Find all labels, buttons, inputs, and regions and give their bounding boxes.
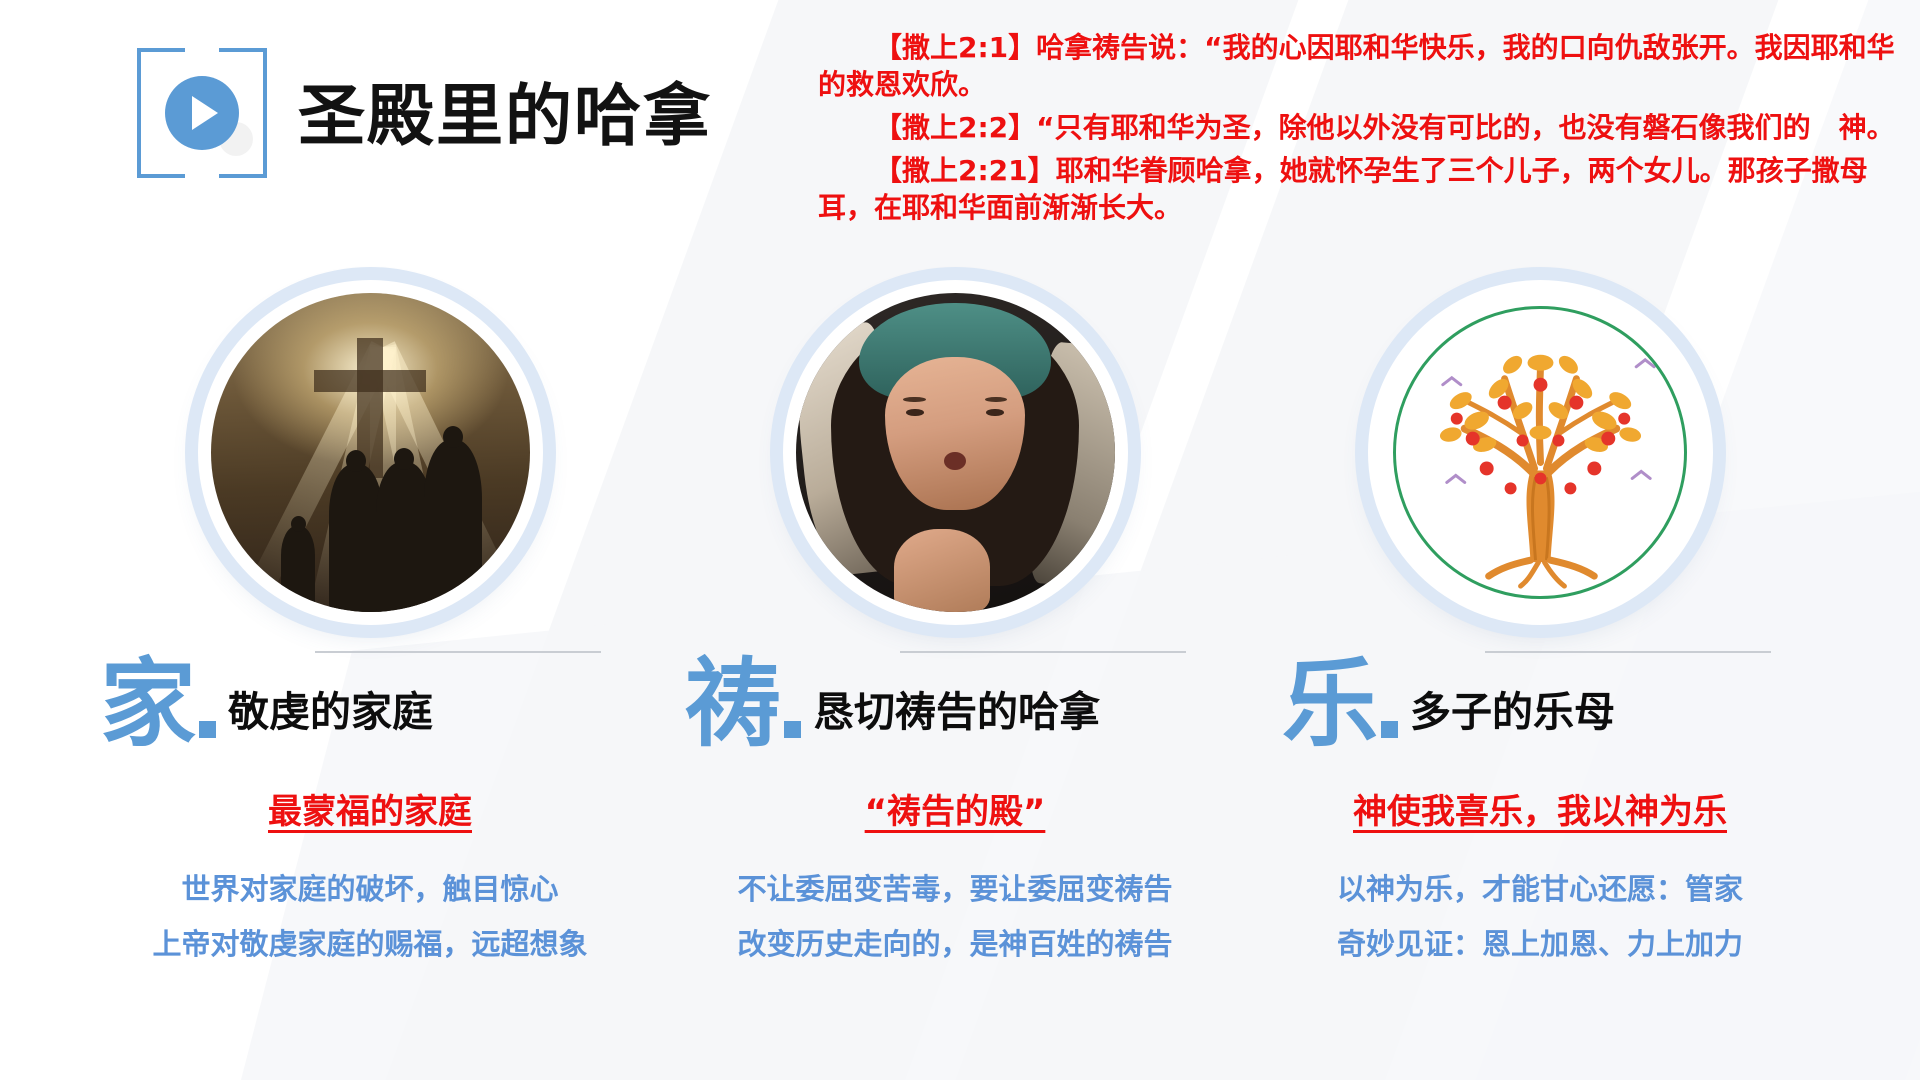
cross-silhouette-image — [211, 293, 530, 612]
photo-clip — [211, 293, 530, 612]
praying-woman-image — [796, 293, 1115, 612]
play-icon-frame-notch — [185, 174, 219, 182]
play-icon-frame-notch — [185, 44, 219, 52]
column-divider — [315, 651, 601, 653]
column-headline-label: 恳切祷告的哈拿 — [813, 678, 1100, 750]
mouth — [944, 452, 966, 470]
column-key-character: 乐 — [1282, 659, 1378, 750]
column-joy: 乐 多子的乐母 神使我喜乐，我以神为乐 以神为乐，才能甘心还愿：管家 奇妙见证：… — [1230, 280, 1850, 985]
body-line: 改变历史走向的，是神百姓的祷告 — [645, 930, 1265, 959]
scripture-verse: 【撒上2:1】哈拿祷告说：“我的心因耶和华快乐，我的口向仇敌张开。我因耶和华的救… — [818, 30, 1913, 104]
column-body-lines: 不让委屈变苦毒，要让委屈变祷告 改变历史走向的，是神百姓的祷告 — [645, 875, 1265, 959]
family-cross-photo — [198, 280, 543, 625]
column-headline-label: 多子的乐母 — [1410, 678, 1615, 750]
column-headline: 家 敬虔的家庭 — [60, 659, 680, 750]
scripture-verse: 【撒上2:21】耶和华眷顾哈拿，她就怀孕生了三个儿子，两个女儿。那孩子撒母耳，在… — [818, 153, 1913, 227]
scripture-verse: 【撒上2:2】“只有耶和华为圣，除他以外没有可比的，也没有磐石像我们的 神。 — [818, 110, 1913, 147]
play-icon — [137, 48, 267, 178]
square-dot-icon — [1381, 721, 1398, 738]
page-title: 圣殿里的哈拿 — [298, 62, 712, 159]
body-line: 以神为乐，才能甘心还愿：管家 — [1230, 875, 1850, 904]
eye — [986, 409, 1004, 417]
column-red-subtitle: 神使我喜乐，我以神为乐 — [1230, 784, 1850, 833]
eyebrow — [903, 397, 925, 402]
column-body-lines: 以神为乐，才能甘心还愿：管家 奇妙见证：恩上加恩、力上加力 — [1230, 875, 1850, 959]
column-prayer: 祷 恳切祷告的哈拿 “祷告的殿” 不让委屈变苦毒，要让委屈变祷告 改变历史走向的… — [645, 280, 1265, 985]
column-headline-label: 敬虔的家庭 — [228, 678, 433, 750]
photo-clip — [1381, 293, 1700, 612]
column-divider — [1485, 651, 1771, 653]
column-red-subtitle: 最蒙福的家庭 — [60, 784, 680, 833]
column-headline: 祷 恳切祷告的哈拿 — [645, 659, 1265, 750]
praying-woman-photo — [783, 280, 1128, 625]
column-key-character: 家 — [100, 659, 196, 750]
person-silhouette — [424, 440, 482, 612]
column-key-character: 祷 — [685, 659, 781, 750]
square-dot-icon — [784, 721, 801, 738]
eye — [906, 409, 924, 417]
tree-ring — [1393, 306, 1687, 600]
column-family: 家 敬虔的家庭 最蒙福的家庭 世界对家庭的破坏，触目惊心 上帝对敬虔家庭的赐福，… — [60, 280, 680, 985]
play-icon-triangle — [192, 96, 218, 130]
slide-header: 圣殿里的哈拿 【撒上2:1】哈拿祷告说：“我的心因耶和华快乐，我的口向仇敌张开。… — [0, 0, 1920, 300]
scripture-block: 【撒上2:1】哈拿祷告说：“我的心因耶和华快乐，我的口向仇敌张开。我因耶和华的救… — [818, 30, 1913, 233]
tree-of-life-image — [1381, 293, 1700, 612]
body-line: 奇妙见证：恩上加恩、力上加力 — [1230, 930, 1850, 959]
square-dot-icon — [199, 721, 216, 738]
column-headline: 乐 多子的乐母 — [1230, 659, 1850, 750]
eyebrow — [985, 397, 1007, 402]
body-line: 上帝对敬虔家庭的赐福，远超想象 — [60, 930, 680, 959]
tree-of-life-illustration — [1368, 280, 1713, 625]
clasped-hands — [894, 529, 990, 612]
person-silhouette — [329, 464, 383, 612]
cross-icon — [314, 370, 426, 392]
column-body-lines: 世界对家庭的破坏，触目惊心 上帝对敬虔家庭的赐福，远超想象 — [60, 875, 680, 959]
body-line: 世界对家庭的破坏，触目惊心 — [60, 875, 680, 904]
child-silhouette — [281, 526, 315, 612]
column-divider — [900, 651, 1186, 653]
body-line: 不让委屈变苦毒，要让委屈变祷告 — [645, 875, 1265, 904]
photo-clip — [796, 293, 1115, 612]
column-red-subtitle: “祷告的殿” — [645, 784, 1265, 833]
